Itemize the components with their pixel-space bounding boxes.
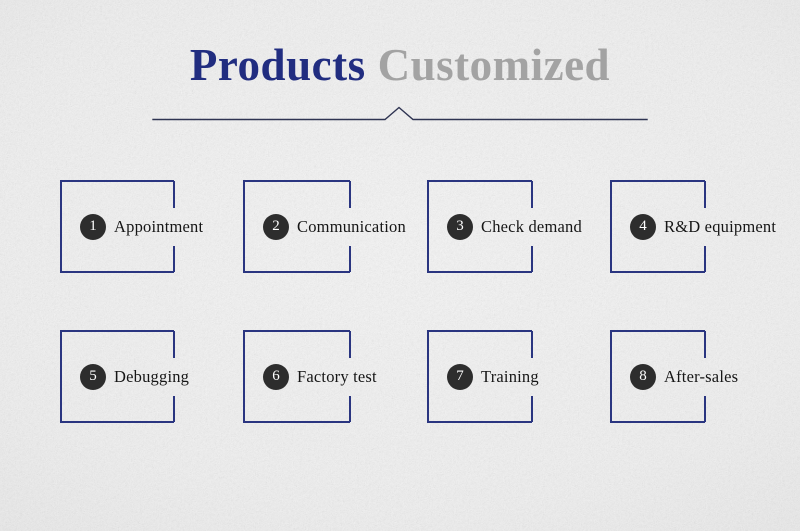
- step-content-5: 5 Debugging: [80, 330, 189, 423]
- step-label-4: R&D equipment: [664, 217, 776, 237]
- step-number-badge-2: 2: [263, 214, 289, 240]
- step-card-6[interactable]: 6 Factory test: [243, 330, 358, 423]
- step-content-6: 6 Factory test: [263, 330, 377, 423]
- page-root: ProductsCustomized 1: [0, 0, 800, 531]
- step-number-badge-5: 5: [80, 364, 106, 390]
- step-card-5[interactable]: 5 Debugging: [60, 330, 175, 423]
- step-label-2: Communication: [297, 217, 406, 237]
- step-content-8: 8 After-sales: [630, 330, 738, 423]
- step-card-2[interactable]: 2 Communication: [243, 180, 358, 273]
- step-card-3[interactable]: 3 Check demand: [427, 180, 542, 273]
- step-label-3: Check demand: [481, 217, 582, 237]
- steps-grid: 1 Appointment 2 Communication: [0, 0, 800, 531]
- step-number-badge-6: 6: [263, 364, 289, 390]
- step-number-badge-1: 1: [80, 214, 106, 240]
- step-card-8[interactable]: 8 After-sales: [610, 330, 725, 423]
- step-content-3: 3 Check demand: [447, 180, 582, 273]
- step-card-1[interactable]: 1 Appointment: [60, 180, 175, 273]
- step-number-badge-7: 7: [447, 364, 473, 390]
- step-label-8: After-sales: [664, 367, 738, 387]
- step-card-7[interactable]: 7 Training: [427, 330, 542, 423]
- step-label-7: Training: [481, 367, 539, 387]
- step-label-5: Debugging: [114, 367, 189, 387]
- step-card-4[interactable]: 4 R&D equipment: [610, 180, 725, 273]
- step-number-badge-4: 4: [630, 214, 656, 240]
- step-label-6: Factory test: [297, 367, 377, 387]
- step-label-1: Appointment: [114, 217, 203, 237]
- step-content-1: 1 Appointment: [80, 180, 203, 273]
- step-number-badge-8: 8: [630, 364, 656, 390]
- step-content-2: 2 Communication: [263, 180, 406, 273]
- step-content-7: 7 Training: [447, 330, 539, 423]
- step-number-badge-3: 3: [447, 214, 473, 240]
- step-content-4: 4 R&D equipment: [630, 180, 776, 273]
